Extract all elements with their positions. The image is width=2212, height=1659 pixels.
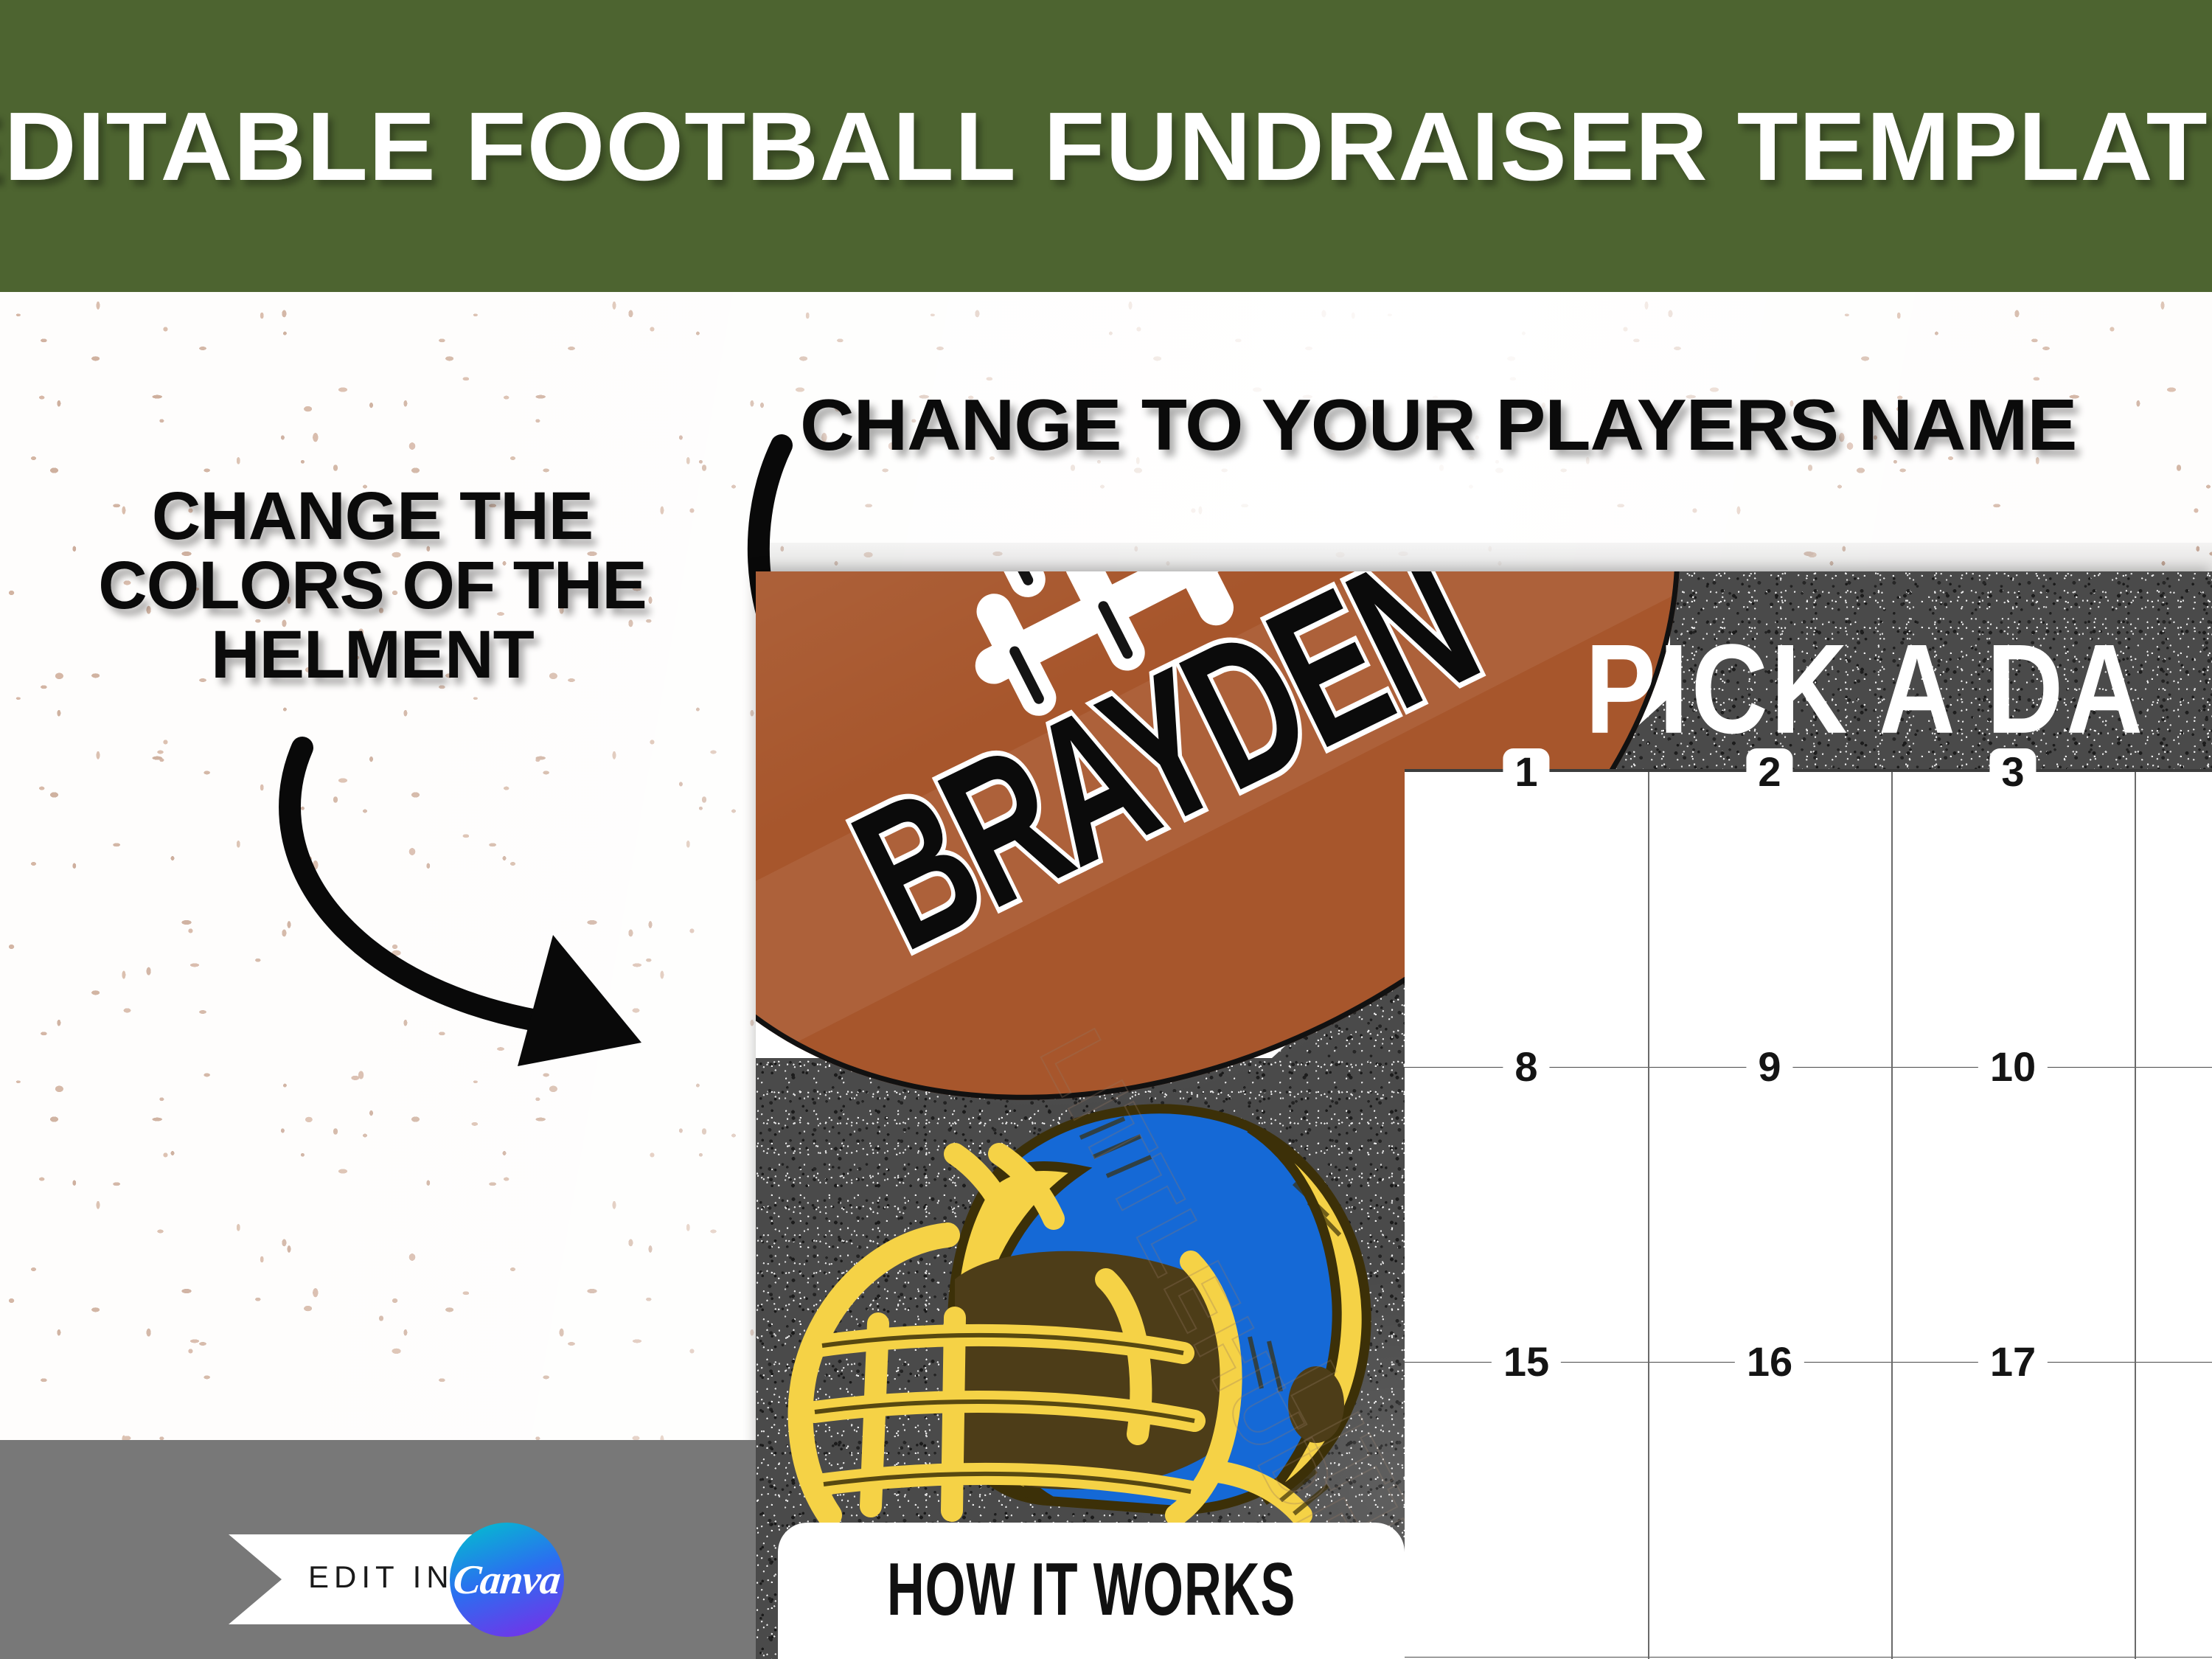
calendar-row-divider — [1405, 1657, 2212, 1658]
annotation-player-name: CHANGE TO YOUR PLAYERS NAME — [800, 389, 2076, 462]
calendar-day-cell[interactable]: 8 — [1503, 1043, 1549, 1091]
screenshot-root: EDITABLE FOOTBALL FUNDRAISER TEMPLATE CH… — [0, 0, 2212, 1659]
template-preview-card[interactable]: BRAYDEN — [756, 571, 2212, 1659]
edit-in-canva-badge[interactable]: EDIT IN Canva — [229, 1523, 546, 1637]
helmet-interior — [955, 1251, 1239, 1489]
calendar-col-divider — [1648, 772, 1649, 1659]
pick-a-date-title: PICK A DA — [1585, 616, 2212, 762]
calendar-col-divider — [1891, 772, 1893, 1659]
how-it-works-label: HOW IT WORKS — [887, 1547, 1295, 1633]
calendar-day-cell[interactable]: 1 — [1503, 748, 1549, 796]
calendar-day-cell[interactable]: 3 — [1989, 748, 2036, 796]
how-it-works-panel[interactable]: HOW IT WORKS — [778, 1523, 1405, 1659]
calendar-day-cell[interactable]: 10 — [1978, 1043, 2048, 1091]
annotation-helmet-colors: CHANGE THE COLORS OF THE HELMENT — [29, 482, 715, 689]
page-title: EDITABLE FOOTBALL FUNDRAISER TEMPLATE — [0, 91, 2212, 202]
annotation-helmet-line-1: CHANGE THE — [29, 482, 715, 552]
calendar-day-cell[interactable]: 2 — [1746, 748, 1792, 796]
annotation-helmet-line-2: COLORS OF THE — [29, 552, 715, 621]
calendar-day-cell[interactable]: 16 — [1735, 1338, 1804, 1385]
calendar-day-cell[interactable]: 15 — [1492, 1338, 1561, 1385]
calendar-day-cell[interactable]: 9 — [1746, 1043, 1792, 1091]
football-helmet-illustration[interactable] — [756, 1058, 1427, 1567]
calendar-col-divider — [2135, 772, 2136, 1659]
calendar-day-cell[interactable]: 17 — [1978, 1338, 2048, 1385]
canva-wordmark: Canva — [451, 1557, 563, 1604]
canva-logo-icon[interactable]: Canva — [450, 1523, 564, 1637]
helmet-ear-hole — [1288, 1366, 1344, 1443]
edit-in-label: EDIT IN — [308, 1559, 454, 1595]
calendar-grid[interactable]: 1 2 3 4 8 9 10 11 15 16 17 18 — [1405, 769, 2212, 1659]
header-banner: EDITABLE FOOTBALL FUNDRAISER TEMPLATE — [0, 0, 2212, 292]
annotation-helmet-line-3: HELMENT — [29, 621, 715, 690]
